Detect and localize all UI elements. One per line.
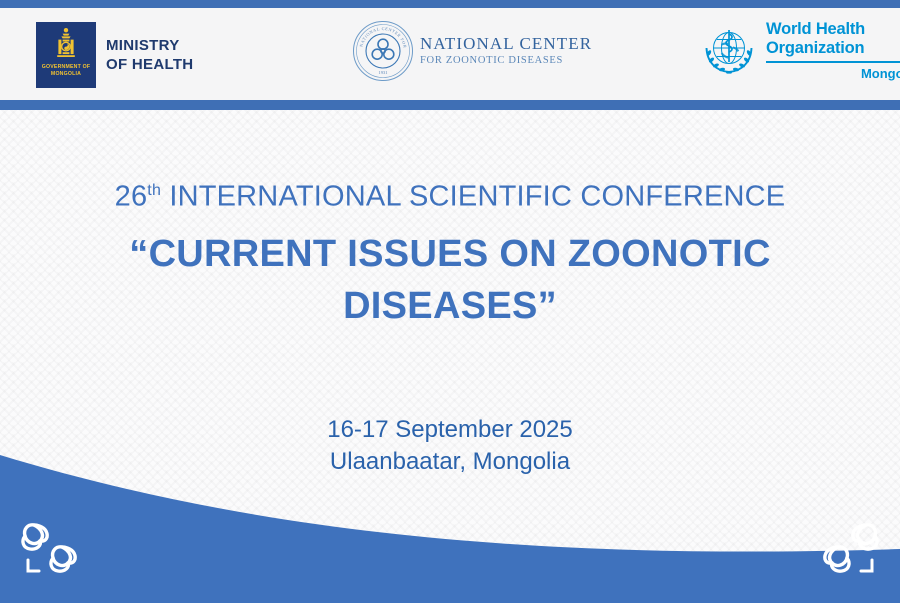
ministry-name-line2: OF HEALTH	[106, 55, 193, 74]
nczd-name-line2: FOR ZOONOTIC DISEASES	[420, 54, 592, 68]
who-logo: World Health Organization Mongolia	[700, 20, 900, 81]
emblem-caption: GOVERNMENT OF MONGOLIA	[36, 64, 96, 78]
triquetra-knot-icon-right	[814, 519, 886, 581]
nczd-name: NATIONAL CENTER FOR ZOONOTIC DISEASES	[420, 34, 592, 68]
who-name-line2: Organization	[766, 39, 900, 58]
ministry-name-line1: MINISTRY	[106, 36, 193, 55]
top-accent-bar	[0, 0, 900, 8]
headline-block: 26th INTERNATIONAL SCIENTIFIC CONFERENCE…	[0, 172, 900, 332]
who-divider-rule	[766, 61, 900, 63]
national-center-zoonotic-diseases-logo: NATIONAL CENTER FOR ZOONOTIC DIS 1931 NA…	[352, 20, 592, 82]
who-name-line1: World Health	[766, 20, 900, 39]
nczd-seal-icon: NATIONAL CENTER FOR ZOONOTIC DIS 1931	[352, 20, 414, 82]
who-emblem-icon	[700, 22, 758, 80]
ministry-of-health-logo: GOVERNMENT OF MONGOLIA MINISTRY OF HEALT…	[36, 22, 193, 88]
wave-shape	[0, 455, 900, 603]
who-country-label: Mongolia	[766, 66, 900, 81]
mongolia-state-emblem: GOVERNMENT OF MONGOLIA	[36, 22, 96, 88]
nczd-name-line1: NATIONAL CENTER	[420, 34, 592, 54]
svg-text:1931: 1931	[379, 70, 388, 75]
conference-label: INTERNATIONAL SCIENTIFIC CONFERENCE	[169, 181, 785, 213]
ordinal-suffix: th	[147, 182, 161, 199]
wave-footer	[0, 453, 900, 603]
who-name: World Health Organization Mongolia	[766, 20, 900, 81]
soyombo-symbol-icon	[52, 27, 80, 67]
header-divider-bar	[0, 100, 900, 110]
conference-number: 26	[115, 181, 148, 213]
conference-title-slide: GOVERNMENT OF MONGOLIA MINISTRY OF HEALT…	[0, 0, 900, 603]
conference-subtitle: 26th INTERNATIONAL SCIENTIFIC CONFERENCE	[0, 172, 900, 216]
ministry-name: MINISTRY OF HEALTH	[106, 36, 193, 74]
event-dates: 16-17 September 2025	[0, 414, 900, 446]
page-title: “CURRENT ISSUES ON ZOONOTIC DISEASES”	[0, 228, 900, 332]
triquetra-knot-icon-left	[14, 519, 86, 581]
